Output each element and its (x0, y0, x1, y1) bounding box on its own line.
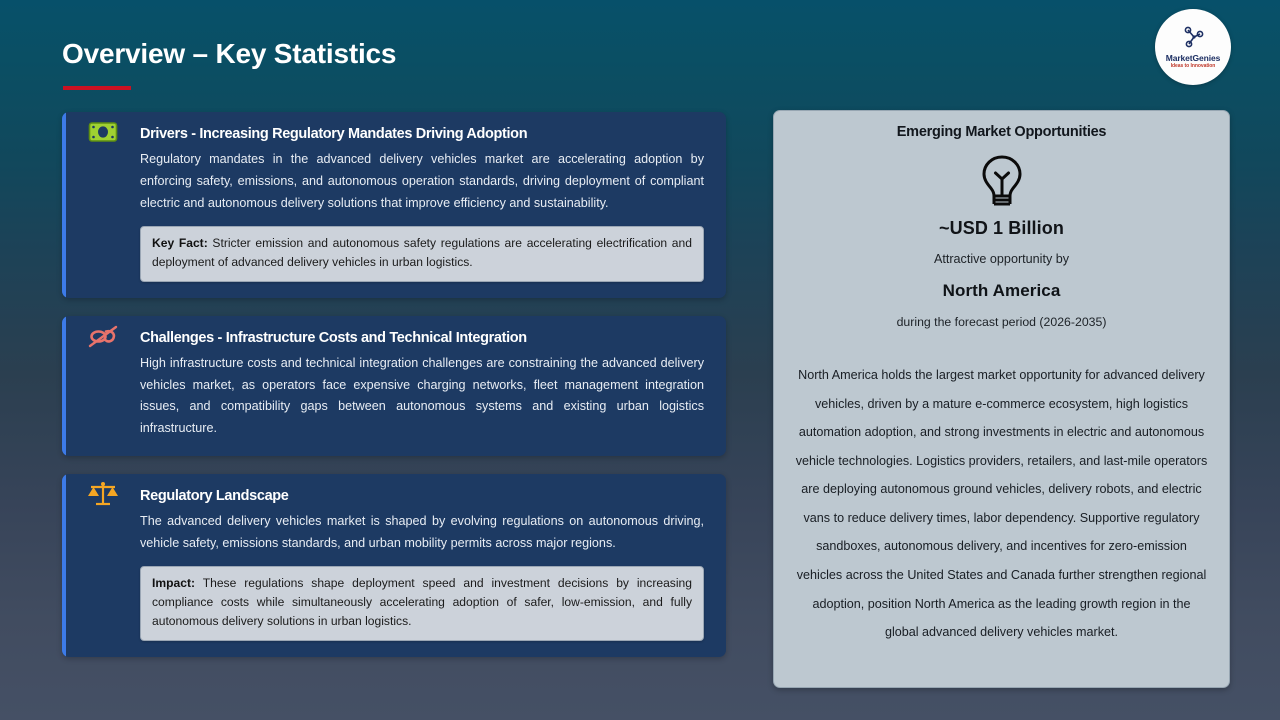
impact-box: Impact: These regulations shape deployme… (140, 566, 704, 640)
card-body-text: High infrastructure costs and technical … (140, 353, 704, 440)
card-heading: Regulatory Landscape (140, 488, 704, 505)
network-node-icon (1180, 26, 1206, 53)
opportunity-subtitle: Attractive opportunity by (792, 252, 1211, 266)
forecast-period: during the forecast period (2026-2035) (792, 315, 1211, 329)
card-heading: Challenges - Infrastructure Costs and Te… (140, 330, 704, 347)
key-fact-label: Key Fact: (152, 236, 208, 250)
card-accent-bar (62, 112, 66, 298)
card-drivers: Drivers - Increasing Regulatory Mandates… (62, 112, 726, 298)
panel-title: Emerging Market Opportunities (792, 124, 1211, 140)
banknote-icon (86, 120, 120, 149)
impact-label: Impact: (152, 576, 195, 590)
emerging-opportunities-panel: Emerging Market Opportunities ~USD 1 Bil… (773, 110, 1230, 688)
card-accent-bar (62, 474, 66, 657)
lightbulb-icon (792, 154, 1211, 212)
brand-logo: MarketGenies Ideas to Innovation (1155, 9, 1231, 85)
opportunity-value: ~USD 1 Billion (792, 218, 1211, 239)
card-accent-bar (62, 316, 66, 456)
broken-link-icon (86, 322, 120, 355)
balance-scale-icon (86, 481, 120, 512)
key-fact-text: Stricter emission and autonomous safety … (152, 236, 692, 269)
opportunity-region: North America (792, 281, 1211, 301)
card-body-text: The advanced delivery vehicles market is… (140, 511, 704, 554)
statistics-card-list: Drivers - Increasing Regulatory Mandates… (62, 112, 726, 657)
page-title: Overview – Key Statistics (62, 38, 396, 70)
card-regulatory-landscape: Regulatory Landscape The advanced delive… (62, 474, 726, 657)
logo-name: MarketGenies (1166, 54, 1221, 63)
title-underline-accent (63, 86, 131, 90)
key-fact-box: Key Fact: Stricter emission and autonomo… (140, 226, 704, 281)
impact-text: These regulations shape deployment speed… (152, 576, 692, 628)
logo-tagline: Ideas to Innovation (1171, 64, 1216, 69)
card-challenges: Challenges - Infrastructure Costs and Te… (62, 316, 726, 456)
card-heading: Drivers - Increasing Regulatory Mandates… (140, 126, 704, 143)
card-body-text: Regulatory mandates in the advanced deli… (140, 149, 704, 214)
panel-description: North America holds the largest market o… (792, 361, 1211, 647)
